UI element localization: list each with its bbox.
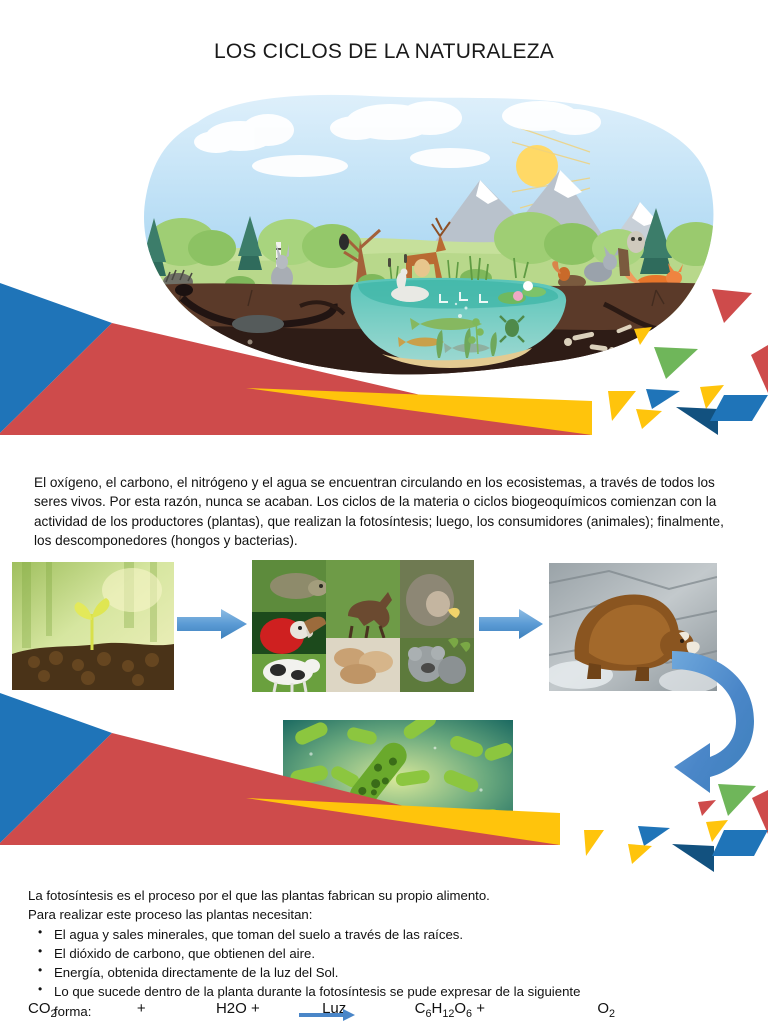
equation-product-glucose: C6H12O6 [415,1000,472,1020]
plant-seedling-photo [12,562,174,690]
list-item: • Lo que sucede dentro de la planta dura… [28,982,740,1001]
intro-paragraph: El oxígeno, el carbono, el nitrógeno y e… [34,473,734,550]
photosynthesis-bullet-list: • El agua y sales minerales, que toman d… [28,925,740,1002]
bullet-marker: • [38,981,42,999]
slide-root: LOS CICLOS DE LA NATURALEZA [0,0,768,1024]
photosynthesis-intro-line-1: La fotosíntesis es el proceso por el que… [28,886,740,905]
list-item-label: Energía, obtenida directamente de la luz… [54,965,338,980]
equation-reactant-co2: CO2 [28,1000,57,1020]
arrow-plant-to-animals [177,607,247,641]
bullet-marker: • [38,962,42,980]
ecosystem-nature-cycle-illustration [120,92,730,382]
list-item-label: Lo que sucede dentro de la planta durant… [54,984,580,999]
list-item: • El dióxido de carbono, que obtienen de… [28,944,740,963]
bullet-marker: • [38,943,42,961]
equation-plus-2: + [476,1000,485,1017]
arrow-bear-to-bacteria [672,645,768,795]
photosynthesis-intro-line-2: Para realizar este proceso las plantas n… [28,905,740,924]
list-item: • Energía, obtenida directamente de la l… [28,963,740,982]
list-item-label: El dióxido de carbono, que obtienen del … [54,946,315,961]
arrow-animals-to-bear [479,607,543,641]
page-title: LOS CICLOS DE LA NATURALEZA [0,40,768,64]
equation-yields-arrow-icon [299,1009,355,1021]
animals-collage-photo [252,560,474,692]
bullet-marker: • [38,924,42,942]
list-item-label: El agua y sales minerales, que toman del… [54,927,463,942]
equation-product-o2: O2 [597,1000,615,1020]
equation-reactant-h2o: H2O + [216,1000,260,1017]
equation-plus-1: + [137,1000,146,1017]
photosynthesis-equation: CO2 + H2O + Luz C6H12O6 + O2 [28,1000,740,1020]
list-item: • El agua y sales minerales, que toman d… [28,925,740,944]
bacteria-photo [283,720,513,838]
